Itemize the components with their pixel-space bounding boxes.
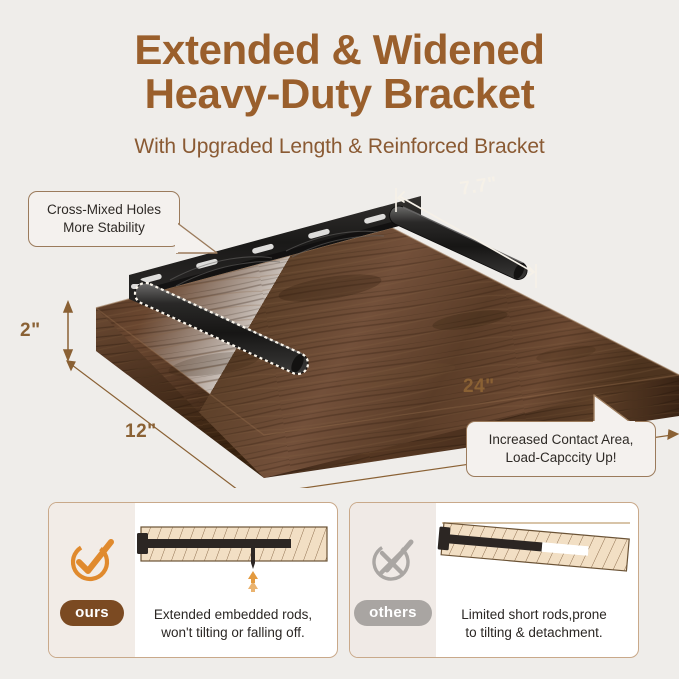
dimension-label-depth: 12" xyxy=(125,421,157,443)
ours-panel-body: Extended embedded rods, won't tilting or… xyxy=(135,503,337,657)
dimension-label-thickness: 2" xyxy=(20,320,41,342)
check-circle-icon xyxy=(66,534,118,586)
ours-caption-line-2: won't tilting or falling off. xyxy=(135,624,331,643)
headline-line-2: Heavy-Duty Bracket xyxy=(0,72,679,116)
callout-left-line-1: Cross-Mixed Holes xyxy=(40,201,168,219)
x-circle-icon xyxy=(367,534,419,586)
ours-rod-diagram xyxy=(135,509,338,593)
callout-right-line-1: Increased Contact Area, xyxy=(478,431,644,449)
ours-caption-line-1: Extended embedded rods, xyxy=(135,606,331,625)
page-title: Extended & Widened Heavy-Duty Bracket xyxy=(0,28,679,115)
thickness-dimension-arrow xyxy=(64,302,72,360)
callout-cross-mixed-holes: Cross-Mixed Holes More Stability xyxy=(28,191,180,247)
page-subtitle: With Upgraded Length & Reinforced Bracke… xyxy=(0,135,679,159)
others-badge-column: others xyxy=(350,503,436,657)
others-caption: Limited short rods,prone to tilting & de… xyxy=(436,606,632,643)
others-caption-line-2: to tilting & detachment. xyxy=(436,624,632,643)
ours-badge: ours xyxy=(60,600,124,626)
headline-line-1: Extended & Widened xyxy=(134,26,544,73)
comparison-panel-ours: ours xyxy=(48,502,338,658)
dimension-label-width: 24" xyxy=(463,376,495,398)
others-rod-wall-plate xyxy=(438,527,451,551)
callout-increased-contact-area: Increased Contact Area, Load-Capccity Up… xyxy=(466,421,656,477)
ours-anchor-pin xyxy=(251,545,255,569)
comparison-section: ours xyxy=(0,498,679,666)
others-tilted-board xyxy=(437,523,629,571)
others-badge: others xyxy=(354,600,432,626)
ours-force-arrows xyxy=(248,571,258,592)
ours-badge-column: ours xyxy=(49,503,135,657)
comparison-panel-others: others xyxy=(349,502,639,658)
ours-rod-wall-plate xyxy=(137,533,148,554)
others-rod-diagram xyxy=(436,509,639,593)
others-caption-line-1: Limited short rods,prone xyxy=(436,606,632,625)
callout-left-line-2: More Stability xyxy=(40,219,168,237)
callout-right-line-2: Load-Capccity Up! xyxy=(478,449,644,467)
ours-embedded-rod xyxy=(143,539,291,548)
ours-caption: Extended embedded rods, won't tilting or… xyxy=(135,606,331,643)
others-panel-body: Limited short rods,prone to tilting & de… xyxy=(436,503,638,657)
product-infographic: Extended & Widened Heavy-Duty Bracket Wi… xyxy=(0,0,679,679)
